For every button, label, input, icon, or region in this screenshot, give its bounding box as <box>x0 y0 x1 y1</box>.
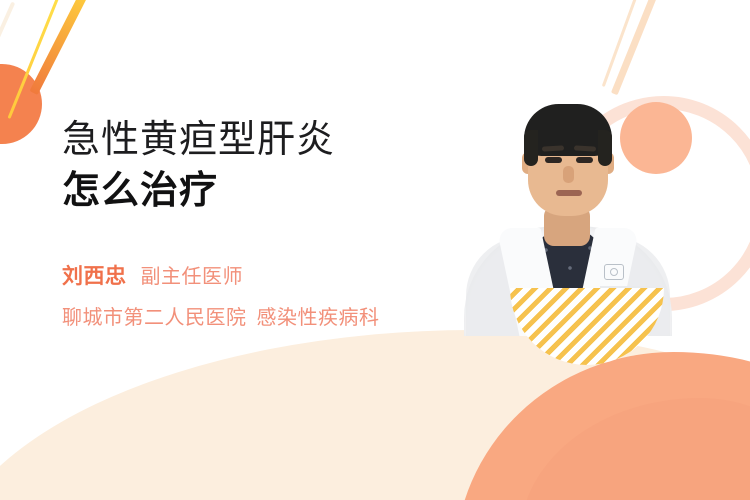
hair-side-right <box>598 130 612 166</box>
doctor-affiliation-row: 聊城市第二人民医院感染性疾病科 <box>62 305 462 331</box>
doctor-department: 感染性疾病科 <box>257 307 380 329</box>
headline-line-2: 怎么治疗 <box>62 168 462 214</box>
diagonal-line-thin-top-right <box>602 0 639 87</box>
diagonal-line-thin-top-left <box>8 0 63 119</box>
circle-shape-left <box>0 64 42 144</box>
diagonal-line-thick-top-left <box>30 0 92 95</box>
doctor-name: 刘西忠 <box>62 265 127 288</box>
mouth <box>556 190 582 196</box>
hair-side-left <box>524 130 538 166</box>
eye-right <box>576 157 593 163</box>
doctor-title: 副主任医师 <box>141 266 244 288</box>
eye-left <box>545 157 562 163</box>
doctor-hospital: 聊城市第二人民医院 <box>62 307 247 329</box>
doctor-identity-row: 刘西忠副主任医师 <box>62 264 462 292</box>
pocket-logo-dot-icon <box>610 268 618 276</box>
health-info-card: 急性黄疸型肝炎 怎么治疗 刘西忠副主任医师 聊城市第二人民医院感染性疾病科 <box>0 0 750 500</box>
nose <box>563 166 574 183</box>
headline-line-1: 急性黄疸型肝炎 <box>62 118 462 162</box>
eyebrow-right <box>574 145 596 151</box>
text-block: 急性黄疸型肝炎 怎么治疗 刘西忠副主任医师 聊城市第二人民医院感染性疾病科 <box>62 118 462 331</box>
diagonal-line-bottom-left <box>0 2 15 55</box>
